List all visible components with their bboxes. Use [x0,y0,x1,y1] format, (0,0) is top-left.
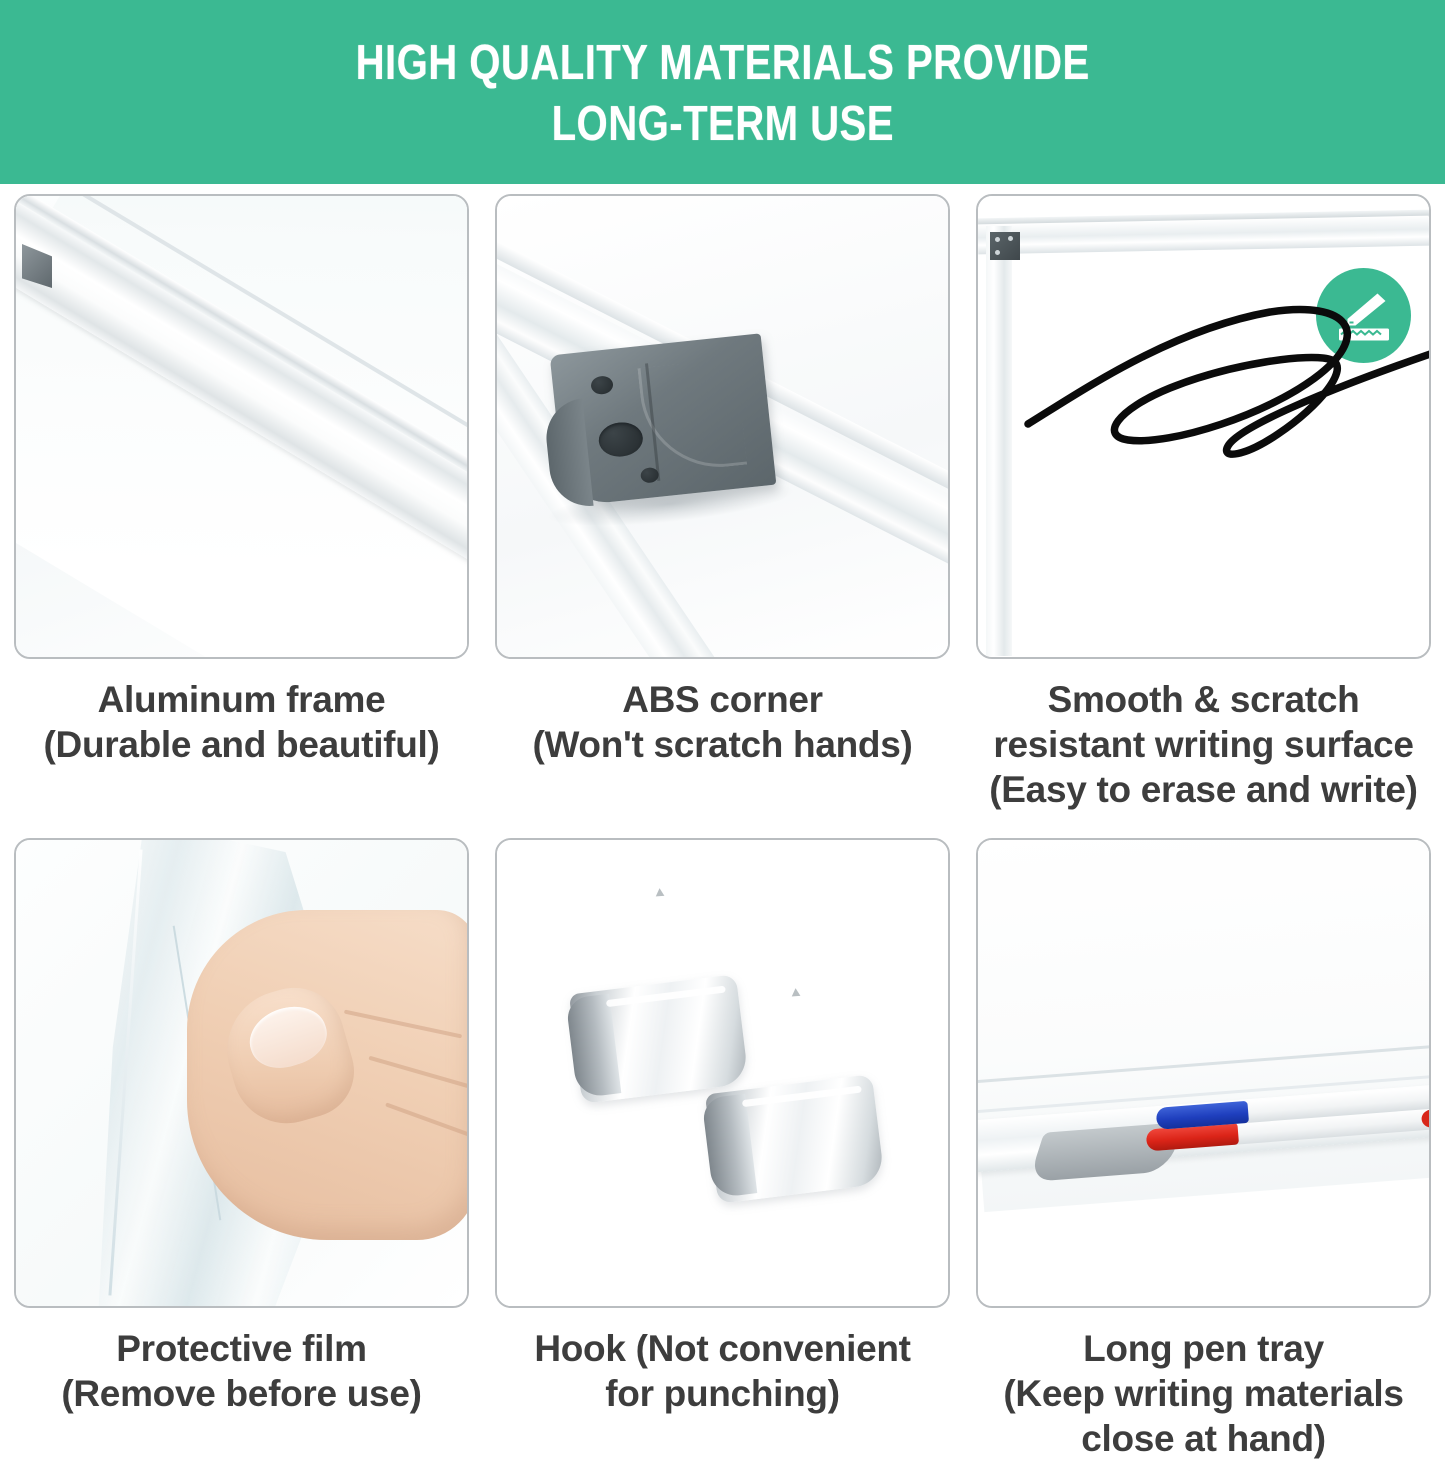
feature-caption-protective-film: Protective film (Remove before use) [14,1308,469,1416]
caption-line: (Easy to erase and write) [976,767,1431,812]
bracket-rivet-icon [1008,236,1013,241]
knuckle-crease [385,1102,469,1137]
caption-line: for punching) [495,1371,950,1416]
caption-line: ABS corner [495,677,950,722]
feature-image-aluminum-frame [14,194,469,659]
feature-card-abs-corner: ABS corner (Won't scratch hands) [495,194,950,812]
feature-card-protective-film: Protective film (Remove before use) [14,838,469,1461]
feature-caption-abs-corner: ABS corner (Won't scratch hands) [495,659,950,767]
feature-card-writing-surface: Smooth & scratch resistant writing surfa… [976,194,1431,812]
feature-grid-row-1: Aluminum frame (Durable and beautiful) A… [0,184,1445,812]
bracket-rivet-icon [995,250,1000,255]
caption-line: Hook (Not convenient [495,1326,950,1371]
metal-hook-second [717,988,897,1218]
screw-hole-medium-icon [590,375,614,395]
caption-line: (Durable and beautiful) [14,722,469,767]
caption-line: Protective film [14,1326,469,1371]
feature-image-pen-tray [976,838,1431,1308]
feature-image-writing-surface [976,194,1431,659]
feature-card-pen-tray: Long pen tray (Keep writing materials cl… [976,838,1431,1461]
knuckle-crease [368,1056,469,1089]
feature-image-hook [495,838,950,1308]
caption-line: (Keep writing materials [976,1371,1431,1416]
screw-hole-small-icon [640,467,659,484]
caption-line: Smooth & scratch [976,677,1431,722]
feature-caption-writing-surface: Smooth & scratch resistant writing surfa… [976,659,1431,812]
caption-line: (Won't scratch hands) [495,722,950,767]
hook-clip-body [705,1074,885,1204]
caption-line: Aluminum frame [14,677,469,722]
feature-card-hook: Hook (Not convenient for punching) [495,838,950,1461]
screw-hole-large-icon [597,420,644,458]
header-banner: HIGH QUALITY MATERIALS PROVIDE LONG-TERM… [0,0,1445,184]
frame-left-rail [986,226,1012,656]
corner-bracket-icon [990,232,1020,260]
feature-card-aluminum-frame: Aluminum frame (Durable and beautiful) [14,194,469,812]
caption-line: close at hand) [976,1416,1431,1461]
feature-image-protective-film [14,838,469,1308]
bracket-rivet-icon [995,237,1000,242]
banner-headline-line-2: LONG-TERM USE [551,94,893,155]
feature-caption-aluminum-frame: Aluminum frame (Durable and beautiful) [14,659,469,767]
marker-scribble-icon [1020,296,1431,476]
abs-corner-piece [550,333,777,506]
caption-line: (Remove before use) [14,1371,469,1416]
knuckle-crease [344,1010,462,1039]
feature-caption-hook: Hook (Not convenient for punching) [495,1308,950,1416]
feature-caption-pen-tray: Long pen tray (Keep writing materials cl… [976,1308,1431,1461]
banner-headline-line-1: HIGH QUALITY MATERIALS PROVIDE [355,33,1089,94]
feature-image-abs-corner [495,194,950,659]
caption-line: Long pen tray [976,1326,1431,1371]
feature-grid-row-2: Protective film (Remove before use) Hook… [0,828,1445,1461]
caption-line: resistant writing surface [976,722,1431,767]
